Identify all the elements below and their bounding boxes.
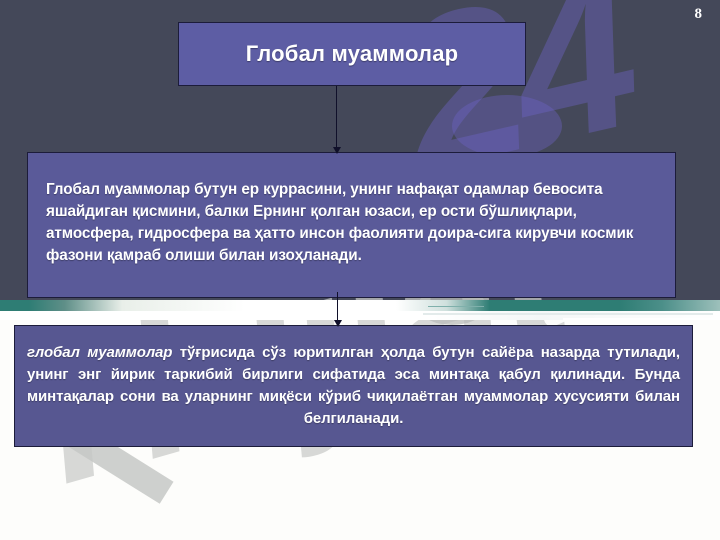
- definition-text: Глобал муаммолар бутун ер куррасини, уни…: [46, 179, 657, 266]
- title-text: Глобал муаммолар: [246, 41, 459, 67]
- accent-hairline-mid: [423, 313, 713, 315]
- explanation-box: глобал муаммолар тўғрисида сўз юритилган…: [14, 325, 693, 447]
- explanation-paragraph: глобал муаммолар тўғрисида сўз юритилган…: [27, 342, 680, 430]
- connector-arrow-middle-to-bottom: [337, 292, 338, 322]
- page-number: 8: [695, 6, 703, 23]
- title-box: Глобал муаммолар: [178, 22, 526, 86]
- connector-arrow-title-to-middle: [336, 86, 337, 149]
- watermark-blob-upper: [452, 95, 562, 157]
- definition-box: Глобал муаммолар бутун ер куррасини, уни…: [27, 152, 676, 298]
- slide-canvas: 24 Hujjat 8 Глобал муаммолар Глобал муам…: [0, 0, 720, 540]
- accent-hairline-bottom: [563, 318, 715, 320]
- explanation-lead-text: глобал муаммолар: [27, 344, 172, 361]
- accent-hairline-top: [428, 306, 484, 307]
